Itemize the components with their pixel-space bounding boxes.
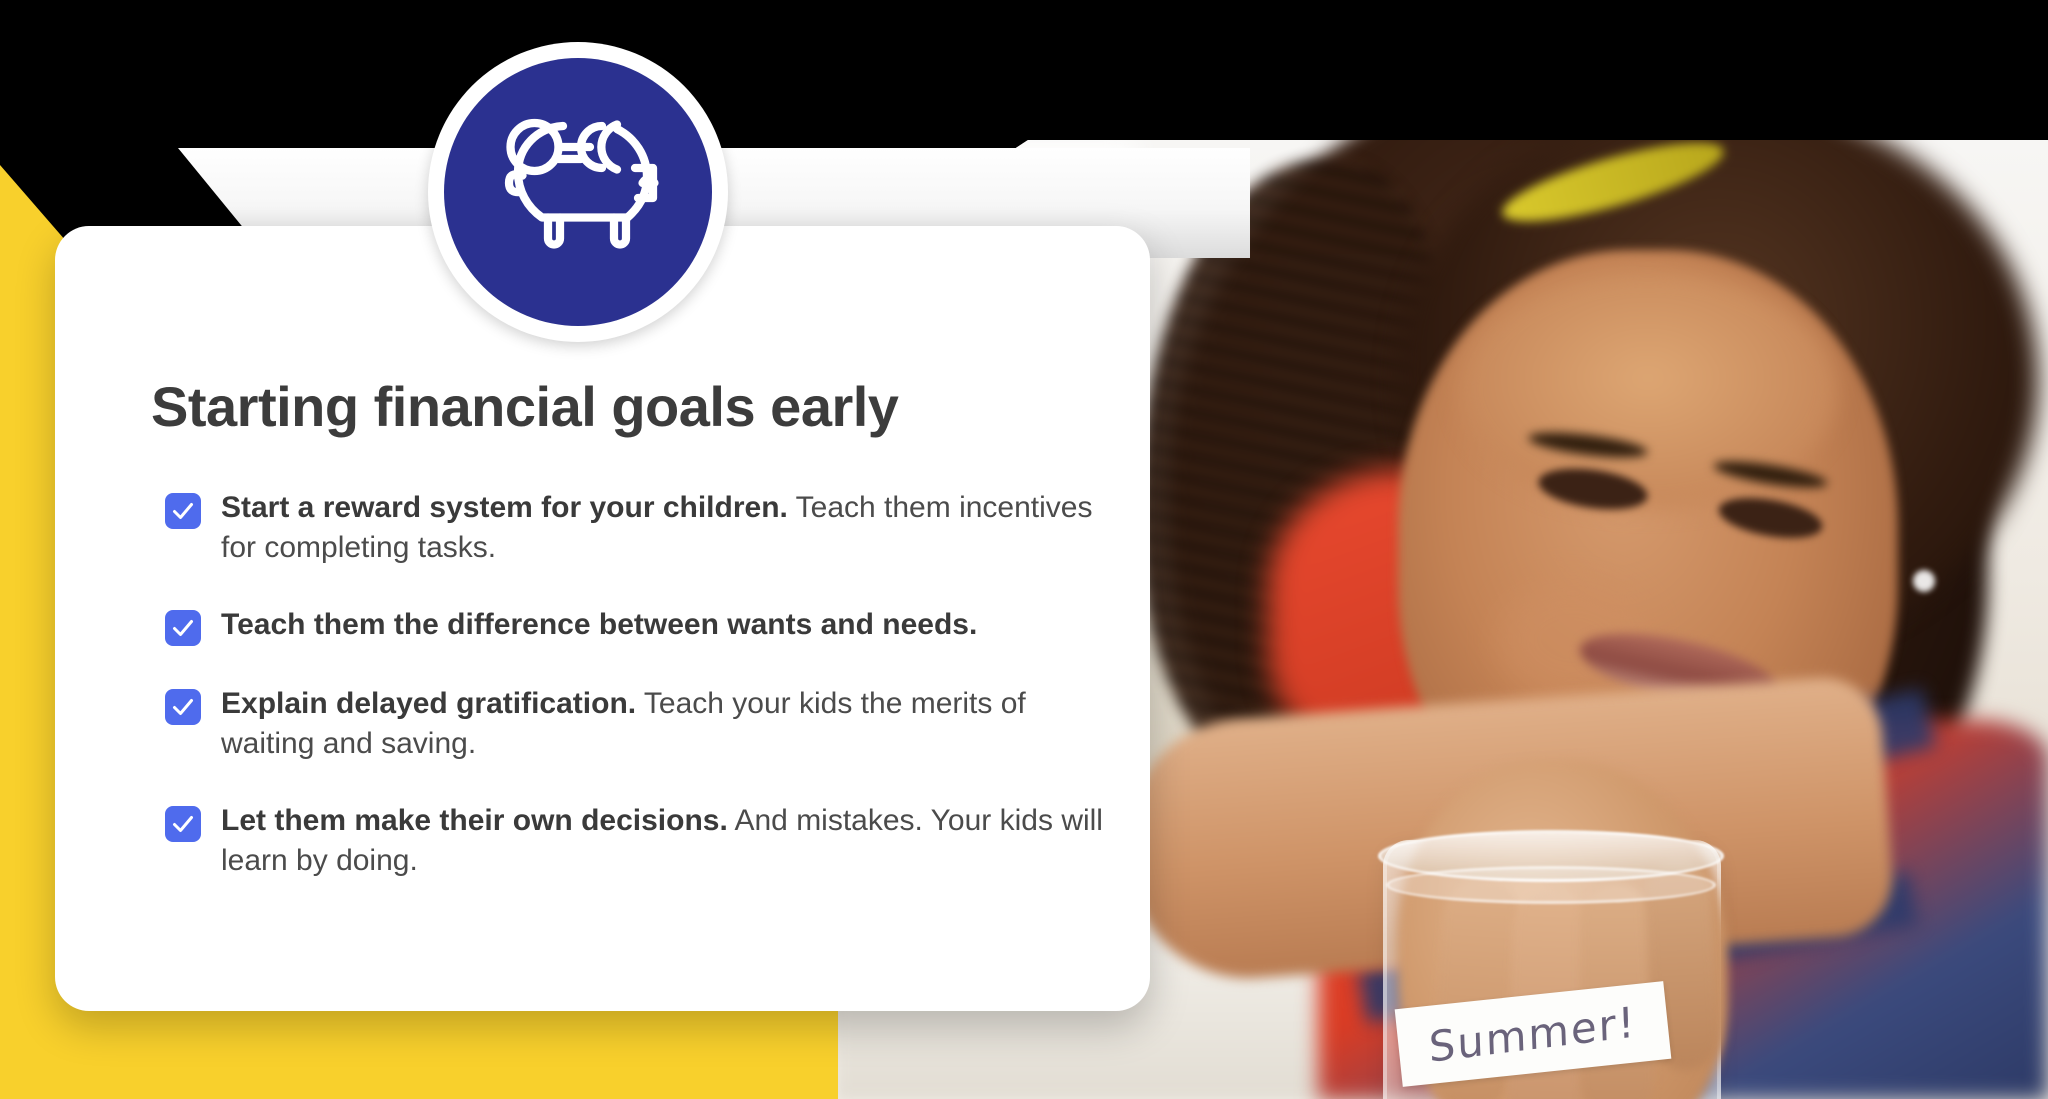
checkbox-checked-icon[interactable]: [165, 689, 201, 725]
checkbox-checked-icon[interactable]: [165, 493, 201, 529]
checkbox-checked-icon[interactable]: [165, 806, 201, 842]
checklist-item-text: Let them make their own decisions. And m…: [221, 801, 1125, 880]
piggy-bank-icon: [488, 102, 668, 282]
checklist-item-lead: Start a reward system for your children.: [221, 491, 788, 524]
badge-ring: [428, 42, 728, 342]
checklist-item-text: Explain delayed gratification. Teach you…: [221, 684, 1125, 763]
checklist-item-lead: Teach them the difference between wants …: [221, 608, 977, 641]
poster-canvas: Summer! Starting financial goals early S…: [0, 0, 2048, 1099]
checklist-item[interactable]: Let them make their own decisions. And m…: [165, 801, 1125, 880]
checklist-item-text: Start a reward system for your children.…: [221, 488, 1125, 567]
checklist-item-lead: Explain delayed gratification.: [221, 687, 636, 720]
checklist-item-text: Teach them the difference between wants …: [221, 605, 977, 645]
checklist-item[interactable]: Teach them the difference between wants …: [165, 605, 1125, 646]
photo-nose: [1638, 540, 1728, 630]
photo-earring: [1913, 570, 1935, 592]
jar-label-text: Summer!: [1428, 997, 1637, 1072]
content-card: Starting financial goals early Start a r…: [55, 226, 1150, 1011]
checklist-item-lead: Let them make their own decisions.: [221, 804, 728, 837]
page-title: Starting financial goals early: [151, 376, 1101, 438]
badge-circle: [444, 58, 712, 326]
checklist: Start a reward system for your children.…: [165, 488, 1125, 881]
checkbox-checked-icon[interactable]: [165, 610, 201, 646]
checklist-item[interactable]: Explain delayed gratification. Teach you…: [165, 684, 1125, 763]
checklist-item[interactable]: Start a reward system for your children.…: [165, 488, 1125, 567]
photo-jar-rim-inner: [1386, 866, 1716, 904]
